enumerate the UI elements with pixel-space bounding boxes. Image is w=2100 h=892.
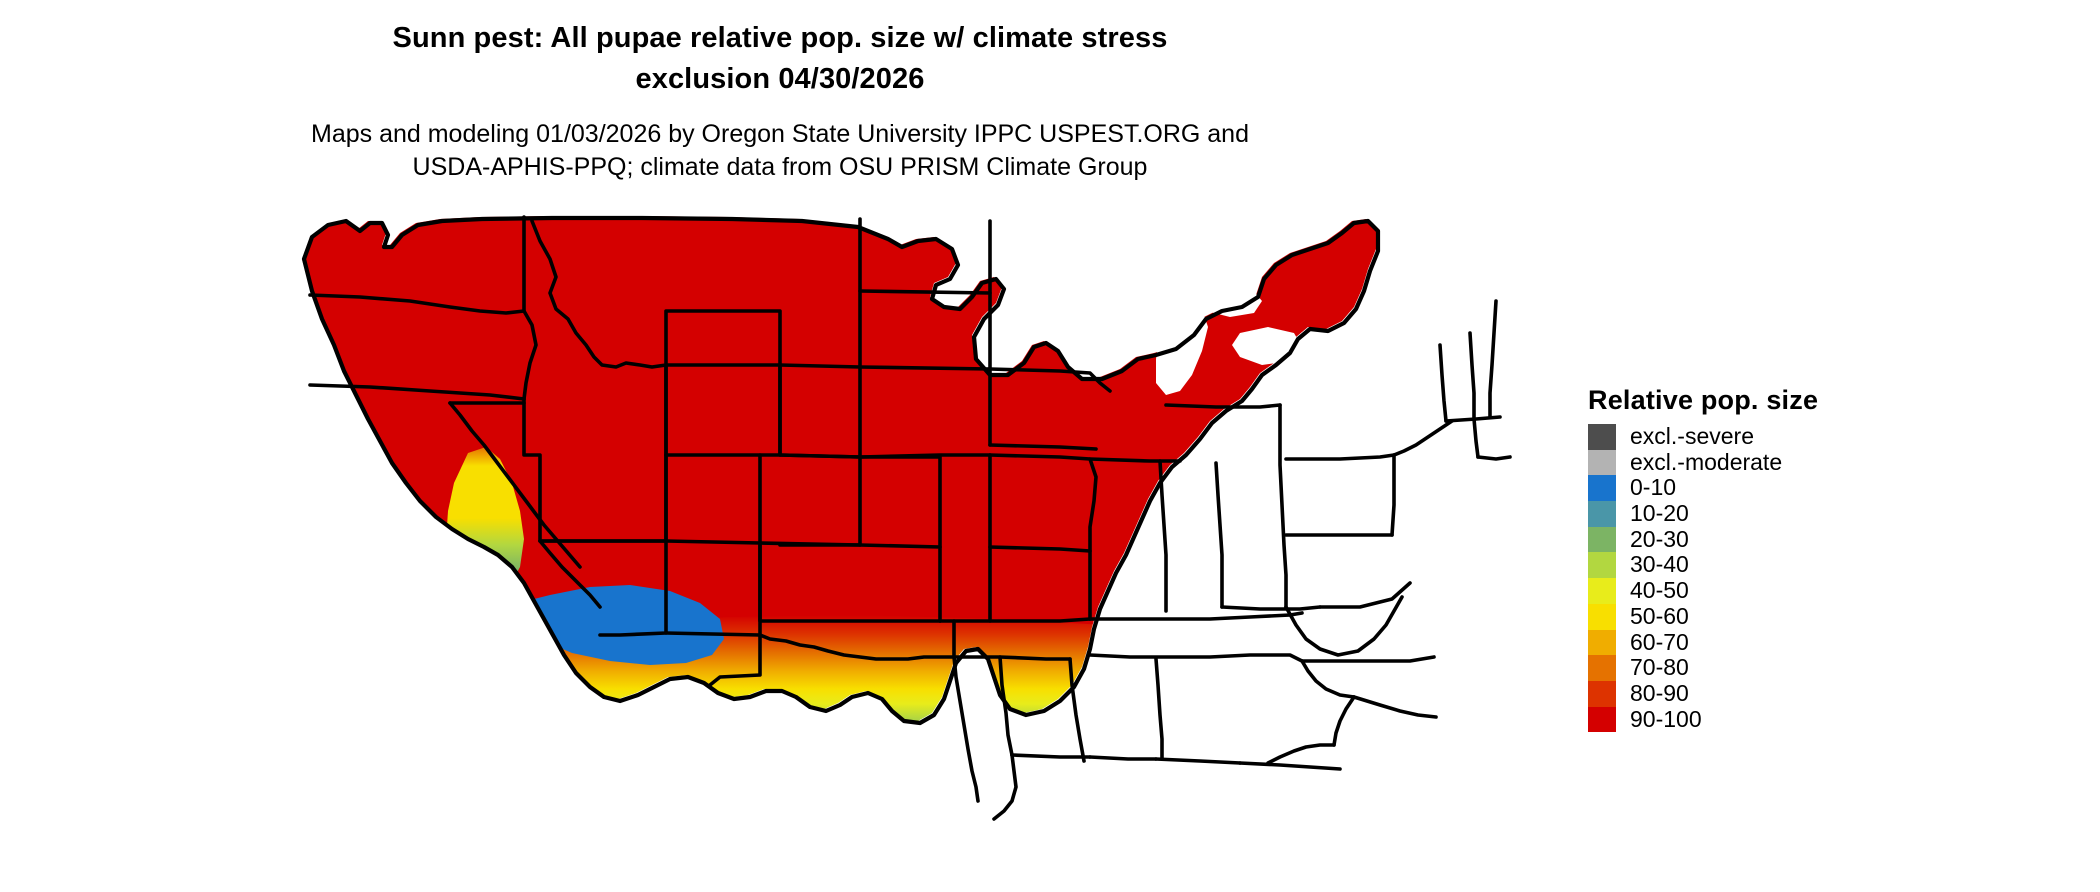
map-figure: Sunn pest: All pupae relative pop. size … bbox=[0, 0, 2100, 892]
title-line-2: exclusion 04/30/2026 bbox=[0, 59, 1560, 100]
title-line-1: Sunn pest: All pupae relative pop. size … bbox=[0, 18, 1560, 59]
legend-entry: 60-70 bbox=[1588, 630, 1918, 656]
legend-label: excl.-moderate bbox=[1630, 450, 1782, 476]
legend-label: 0-10 bbox=[1630, 475, 1676, 501]
legend-entry: 70-80 bbox=[1588, 655, 1918, 681]
subtitle-line-2: USDA-APHIS-PPQ; climate data from OSU PR… bbox=[0, 151, 1560, 184]
legend-entry: 80-90 bbox=[1588, 681, 1918, 707]
legend-color-swatch bbox=[1588, 450, 1616, 476]
legend-entry: excl.-severe bbox=[1588, 424, 1918, 450]
legend-entry: 40-50 bbox=[1588, 578, 1918, 604]
us-choropleth-map bbox=[300, 215, 1570, 885]
legend-label: 70-80 bbox=[1630, 655, 1689, 681]
legend-entry-list: excl.-severeexcl.-moderate0-1010-2020-30… bbox=[1588, 424, 1918, 732]
legend-color-swatch bbox=[1588, 475, 1616, 501]
legend-entry: 50-60 bbox=[1588, 604, 1918, 630]
legend-color-swatch bbox=[1588, 630, 1616, 656]
page-title: Sunn pest: All pupae relative pop. size … bbox=[0, 18, 1560, 100]
legend-label: 60-70 bbox=[1630, 630, 1689, 656]
legend-label: 10-20 bbox=[1630, 501, 1689, 527]
legend-entry: 10-20 bbox=[1588, 501, 1918, 527]
legend-color-swatch bbox=[1588, 604, 1616, 630]
legend-label: 40-50 bbox=[1630, 578, 1689, 604]
legend-label: 90-100 bbox=[1630, 707, 1702, 733]
legend-entry: 20-30 bbox=[1588, 527, 1918, 553]
legend-color-swatch bbox=[1588, 707, 1616, 733]
legend-label: 50-60 bbox=[1630, 604, 1689, 630]
legend-entry: 30-40 bbox=[1588, 552, 1918, 578]
legend-entry: 90-100 bbox=[1588, 707, 1918, 733]
legend-title: Relative pop. size bbox=[1588, 385, 1918, 416]
legend-label: 20-30 bbox=[1630, 527, 1689, 553]
legend-label: 30-40 bbox=[1630, 552, 1689, 578]
legend-color-swatch bbox=[1588, 552, 1616, 578]
legend-color-swatch bbox=[1588, 501, 1616, 527]
legend-color-swatch bbox=[1588, 681, 1616, 707]
legend-color-swatch bbox=[1588, 527, 1616, 553]
page-subtitle: Maps and modeling 01/03/2026 by Oregon S… bbox=[0, 118, 1560, 184]
map-legend: Relative pop. size excl.-severeexcl.-mod… bbox=[1588, 385, 1918, 732]
legend-color-swatch bbox=[1588, 655, 1616, 681]
legend-entry: excl.-moderate bbox=[1588, 450, 1918, 476]
subtitle-line-1: Maps and modeling 01/03/2026 by Oregon S… bbox=[0, 118, 1560, 151]
legend-color-swatch bbox=[1588, 424, 1616, 450]
legend-label: 80-90 bbox=[1630, 681, 1689, 707]
legend-entry: 0-10 bbox=[1588, 475, 1918, 501]
legend-color-swatch bbox=[1588, 578, 1616, 604]
legend-label: excl.-severe bbox=[1630, 424, 1754, 450]
